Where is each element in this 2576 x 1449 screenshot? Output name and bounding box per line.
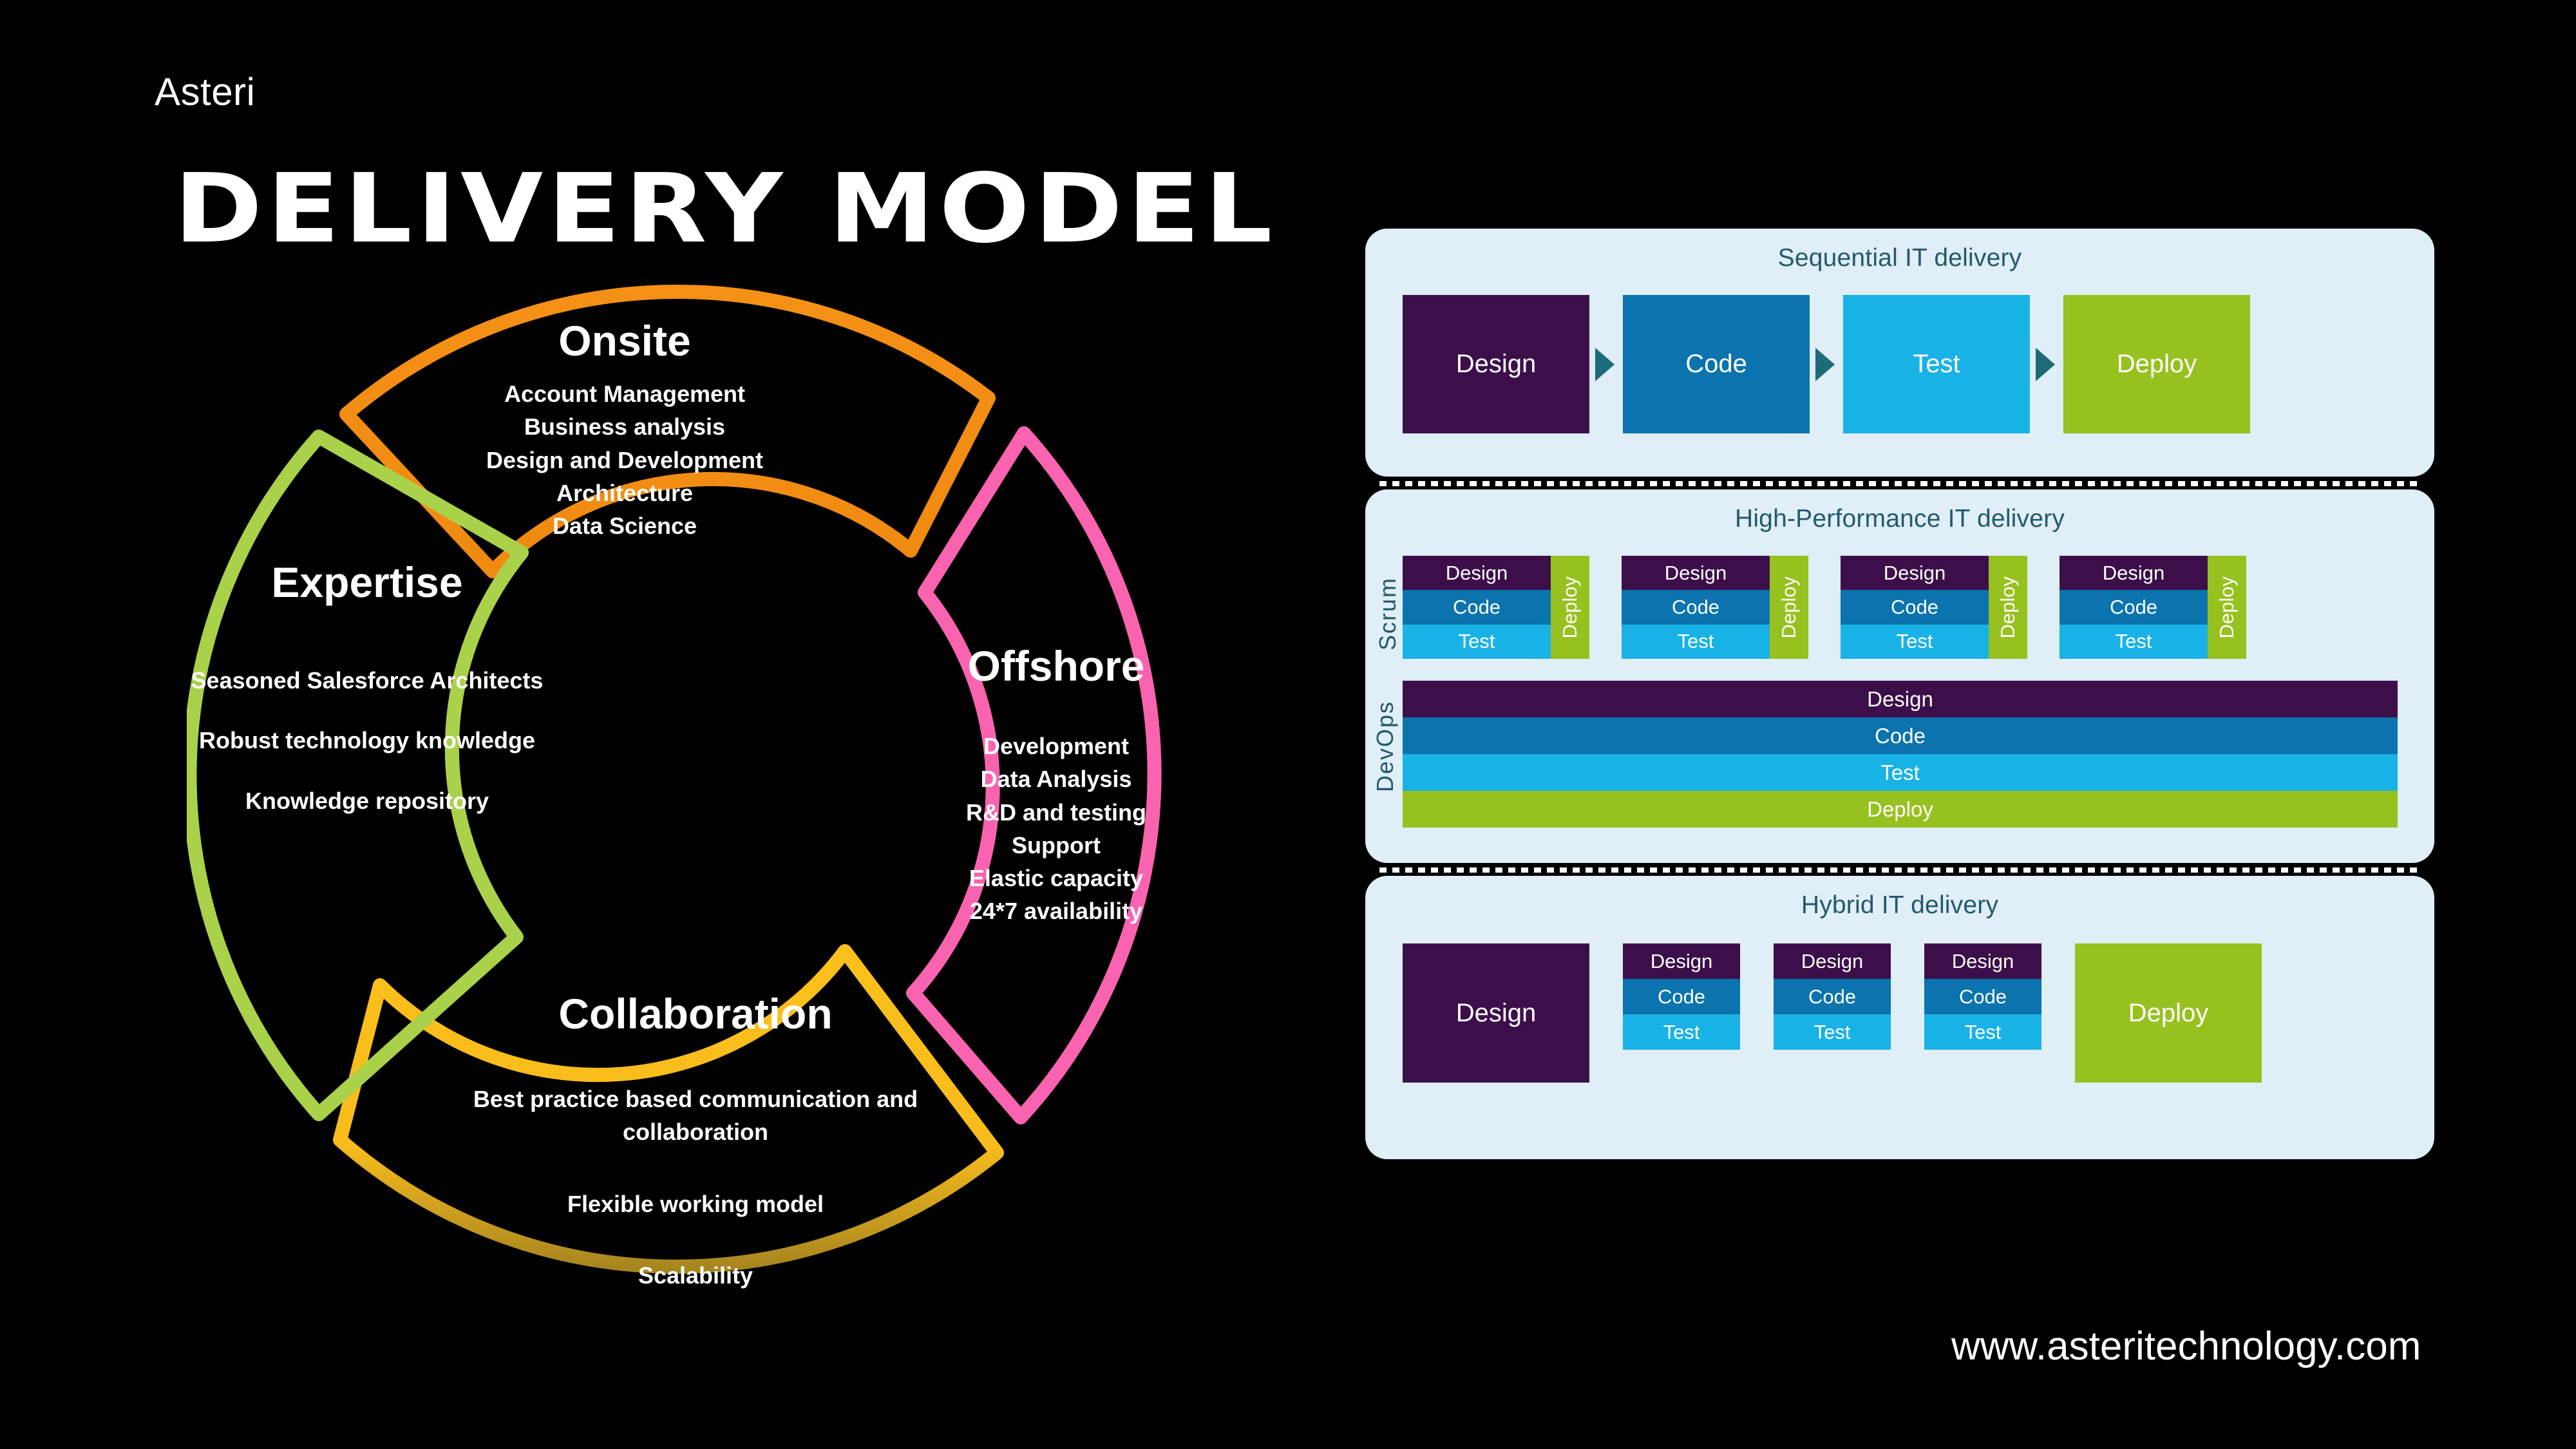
stage-deploy-label: Deploy [1558,576,1582,639]
page-title: DELIVERY MODEL [174,161,1276,256]
stage-design[interactable]: Design [1403,295,1589,433]
scrum-sprint: Design Code Test Deploy [1841,556,2027,659]
stage-deploy[interactable]: Deploy [1770,556,1808,659]
wheel-title-onsite: Onsite [380,319,869,363]
stage-code[interactable]: Code [1623,979,1740,1014]
wheel-segment-offshore: Offshore Development Data Analysis R&D a… [857,644,1256,927]
stage-deploy[interactable]: Deploy [2063,295,2250,433]
panel-divider [1379,867,2420,873]
stage-deploy-label: Deploy [1996,576,2020,639]
hybrid-sprint: Design Code Test [1623,943,1740,1050]
scrum-stage-stack: Design Code Test [1841,556,1989,659]
stage-test[interactable]: Test [1403,625,1551,659]
wheel-item: Data Science [380,509,869,542]
stage-code[interactable]: Code [1924,979,2041,1014]
stage-test[interactable]: Test [1403,754,2398,791]
wheel-item: Elastic capacity [857,862,1256,895]
wheel-segment-expertise: Expertise Seasoned Salesforce Architects… [161,560,573,844]
stage-deploy[interactable]: Deploy [1551,556,1589,659]
devops-stage-stack: Design Code Test Deploy [1403,681,2398,828]
wheel-item: R&D and testing [857,796,1256,829]
row-label-scrum: Scrum [1374,573,1401,650]
wheel-title-offshore: Offshore [857,644,1256,688]
wheel-segment-collaboration: Collaboration Best practice based commun… [464,992,927,1331]
panel-divider [1379,481,2420,486]
stage-code[interactable]: Code [1623,295,1810,433]
stage-test[interactable]: Test [1843,295,2030,433]
scrum-sprint: Design Code Test Deploy [1403,556,1589,659]
stage-test[interactable]: Test [1774,1014,1891,1050]
wheel-item: Development [857,730,1256,762]
stage-code[interactable]: Code [1841,590,1989,624]
stage-deploy-tail[interactable]: Deploy [2075,943,2262,1083]
slide-root: Asteri DELIVERY MODEL [0,0,2576,1449]
wheel-item: Account Management [380,377,869,410]
brand-logo: Asteri [155,70,255,114]
stage-design[interactable]: Design [1403,556,1551,590]
row-label-devops: DevOps [1372,696,1399,792]
scrum-stage-stack: Design Code Test [1622,556,1770,659]
wheel-item: Seasoned Salesforce Architects [161,664,573,697]
stage-design[interactable]: Design [2060,556,2208,590]
hybrid-sprint: Design Code Test [1924,943,2041,1050]
stage-test[interactable]: Test [2060,625,2208,659]
scrum-stage-stack: Design Code Test [2060,556,2208,659]
scrum-sprint: Design Code Test Deploy [1622,556,1808,659]
stage-test[interactable]: Test [1841,625,1989,659]
website-url[interactable]: www.asteritechnology.com [1951,1323,2421,1369]
panel-high-performance-delivery: High-Performance IT delivery Scrum Desig… [1365,489,2434,863]
sequential-stage-row: Design Code Test Deploy [1403,295,2250,433]
panel-sequential-delivery: Sequential IT delivery Design Code Test … [1365,229,2434,477]
it-delivery-diagram: Sequential IT delivery Design Code Test … [1365,229,2434,1220]
stage-code[interactable]: Code [1622,590,1770,624]
stage-code[interactable]: Code [2060,590,2208,624]
panel-title-sequential: Sequential IT delivery [1365,229,2434,272]
wheel-item: Flexible working model [464,1188,927,1220]
stage-design-lead[interactable]: Design [1403,943,1589,1083]
stage-deploy[interactable]: Deploy [1403,791,2398,828]
scrum-sprint-row: Design Code Test Deploy Design Code Test [1403,556,2246,659]
panel-title-hybrid: Hybrid IT delivery [1365,876,2434,920]
stage-test[interactable]: Test [1623,1014,1740,1050]
delivery-wheel: Onsite Account Management Business analy… [187,258,1243,1314]
wheel-title-collaboration: Collaboration [464,992,927,1036]
wheel-item: Best practice based communication and co… [464,1083,927,1148]
hybrid-sprint: Design Code Test [1774,943,1891,1050]
stage-design[interactable]: Design [1924,943,2041,979]
wheel-title-expertise: Expertise [161,560,573,605]
stage-deploy[interactable]: Deploy [1989,556,2027,659]
wheel-item: Support [857,829,1256,862]
stage-deploy-label: Deploy [2215,576,2239,639]
panel-title-high-performance: High-Performance IT delivery [1365,489,2434,533]
wheel-item: Knowledge repository [161,784,573,817]
hybrid-stage-row: Design Design Code Test Design Code Test… [1403,943,2262,1083]
stage-design[interactable]: Design [1841,556,1989,590]
stage-test[interactable]: Test [1924,1014,2041,1050]
wheel-item: Data Analysis [857,762,1256,795]
stage-design[interactable]: Design [1623,943,1740,979]
stage-code[interactable]: Code [1403,590,1551,624]
stage-code[interactable]: Code [1774,979,1891,1014]
arrow-right-icon [1589,295,1623,433]
scrum-stage-stack: Design Code Test [1403,556,1551,659]
stage-deploy-label: Deploy [1777,576,1801,639]
wheel-item: 24*7 availability [857,895,1256,927]
wheel-item: Architecture [380,477,869,509]
wheel-item: Design and Development [380,444,869,477]
wheel-item: Business analysis [380,410,869,443]
stage-design[interactable]: Design [1774,943,1891,979]
stage-code[interactable]: Code [1403,717,2398,754]
scrum-sprint: Design Code Test Deploy [2060,556,2246,659]
wheel-segment-onsite: Onsite Account Management Business analy… [380,319,869,542]
stage-design[interactable]: Design [1403,681,2398,717]
arrow-right-icon [1810,295,1843,433]
stage-design[interactable]: Design [1622,556,1770,590]
panel-hybrid-delivery: Hybrid IT delivery Design Design Code Te… [1365,876,2434,1159]
wheel-item: Robust technology knowledge [161,724,573,757]
wheel-item: Scalability [464,1259,927,1292]
arrow-right-icon [2030,295,2063,433]
stage-test[interactable]: Test [1622,625,1770,659]
stage-deploy[interactable]: Deploy [2208,556,2246,659]
